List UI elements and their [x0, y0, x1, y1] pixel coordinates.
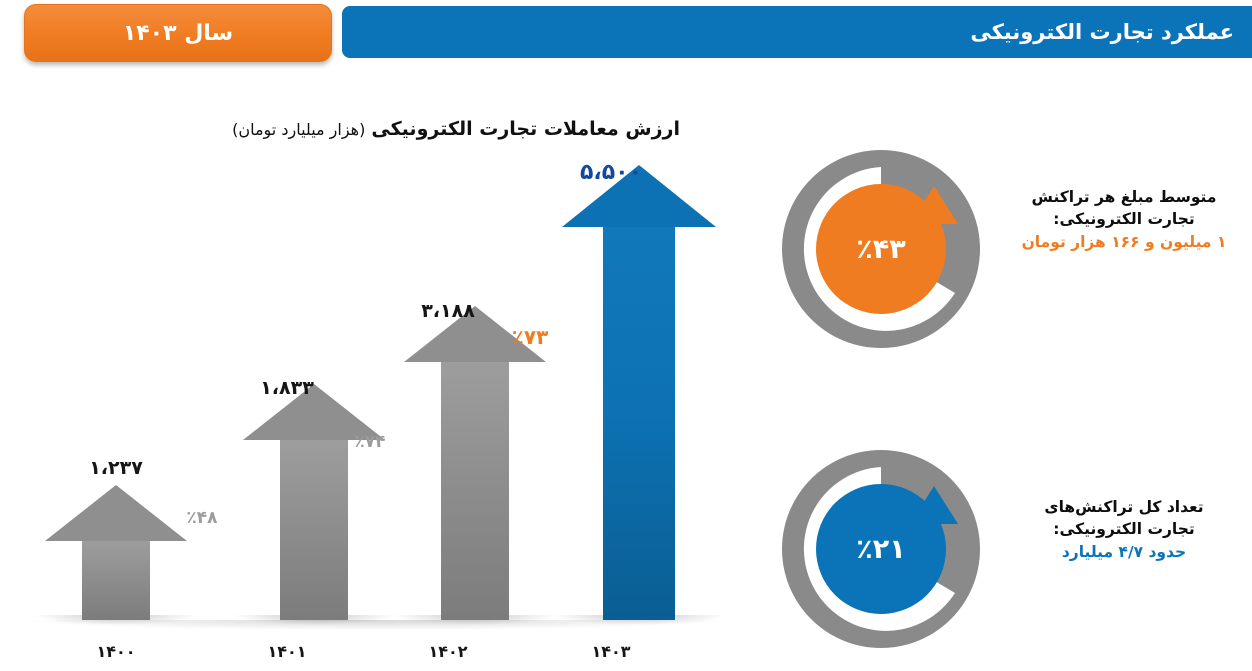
- kpi-caption-line2-2: تجارت الکترونیکی:: [1053, 520, 1195, 538]
- arrow-shaft-2: [280, 440, 348, 620]
- bar-year-1401: ۱۴۰۱: [267, 642, 306, 661]
- arrow-bar-chart: ۱،۲۳۷ ۱۴۰۰ ٪۴۸ ۱،۸۳۳ ۱۴۰۱ ٪۷۴ ۳،۱۸۸ ۱۴۰۲…: [0, 150, 740, 671]
- growth-label-1401-1402: ٪۷۴: [354, 432, 385, 452]
- chart-title-unit: (هزار میلیارد تومان): [232, 120, 365, 139]
- arrow-shaft-1: [82, 541, 150, 620]
- kpi-caption-total-transactions: تعداد کل تراکنش‌های تجارت الکترونیکی: حد…: [1006, 496, 1242, 563]
- year-badge-label: سال ۱۴۰۳: [123, 21, 233, 46]
- bar-value-1401: ۱،۸۳۳: [260, 377, 314, 399]
- bar-year-1400: ۱۴۰۰: [96, 642, 135, 661]
- infographic-canvas: عملکرد تجارت الکترونیکی سال ۱۴۰۳ ارزش مع…: [0, 0, 1252, 671]
- kpi-caption-line2-1: تجارت الکترونیکی:: [1053, 210, 1195, 228]
- donut-svg-2: [782, 450, 980, 648]
- donut-chart-average-amount: ٪۴۳: [782, 150, 980, 348]
- bar-arrow-1402: [404, 306, 546, 620]
- kpi-caption-line1-2: تعداد کل تراکنش‌های: [1044, 498, 1203, 516]
- page-title: عملکرد تجارت الکترونیکی: [970, 20, 1234, 44]
- kpi-caption-line1-1: متوسط مبلغ هر تراکنش: [1032, 188, 1217, 206]
- kpi-card-average-amount: ٪۴۳ متوسط مبلغ هر تراکنش تجارت الکترونیک…: [770, 150, 1252, 350]
- arrow-head-1: [45, 485, 187, 541]
- bar-value-1402: ۳،۱۸۸: [421, 300, 475, 322]
- kpi-caption-average-amount: متوسط مبلغ هر تراکنش تجارت الکترونیکی: ۱…: [1006, 186, 1242, 253]
- bar-value-1400: ۱،۲۳۷: [89, 457, 143, 479]
- donut-chart-total-transactions: ٪۲۱: [782, 450, 980, 648]
- arrow-shaft-4: [603, 227, 675, 620]
- bar-year-1403: ۱۴۰۳: [591, 642, 630, 661]
- year-badge: سال ۱۴۰۳: [24, 4, 332, 62]
- donut-svg-1: [782, 150, 980, 348]
- growth-label-1402-1403: ٪۷۳: [512, 325, 549, 349]
- header-band: عملکرد تجارت الکترونیکی: [342, 6, 1252, 58]
- bar-year-1402: ۱۴۰۲: [428, 642, 467, 661]
- bar-arrow-1400: [45, 485, 187, 620]
- chart-title-main: ارزش معاملات تجارت الکترونیکی: [371, 118, 680, 140]
- bar-arrow-1401: [243, 384, 385, 620]
- growth-label-1400-1401: ٪۴۸: [186, 508, 217, 528]
- kpi-highlight-2: حدود ۴/۷ میلیارد: [1006, 541, 1242, 563]
- bar-value-1403: ۵،۵۰۰: [580, 160, 642, 185]
- kpi-card-total-transactions: ٪۲۱ تعداد کل تراکنش‌های تجارت الکترونیکی…: [770, 450, 1252, 650]
- kpi-highlight-1: ۱ میلیون و ۱۶۶ هزار تومان: [1006, 231, 1242, 253]
- arrow-shaft-3: [441, 362, 509, 620]
- chart-title: ارزش معاملات تجارت الکترونیکی (هزار میلی…: [232, 118, 680, 140]
- bar-arrow-1403: [562, 165, 716, 620]
